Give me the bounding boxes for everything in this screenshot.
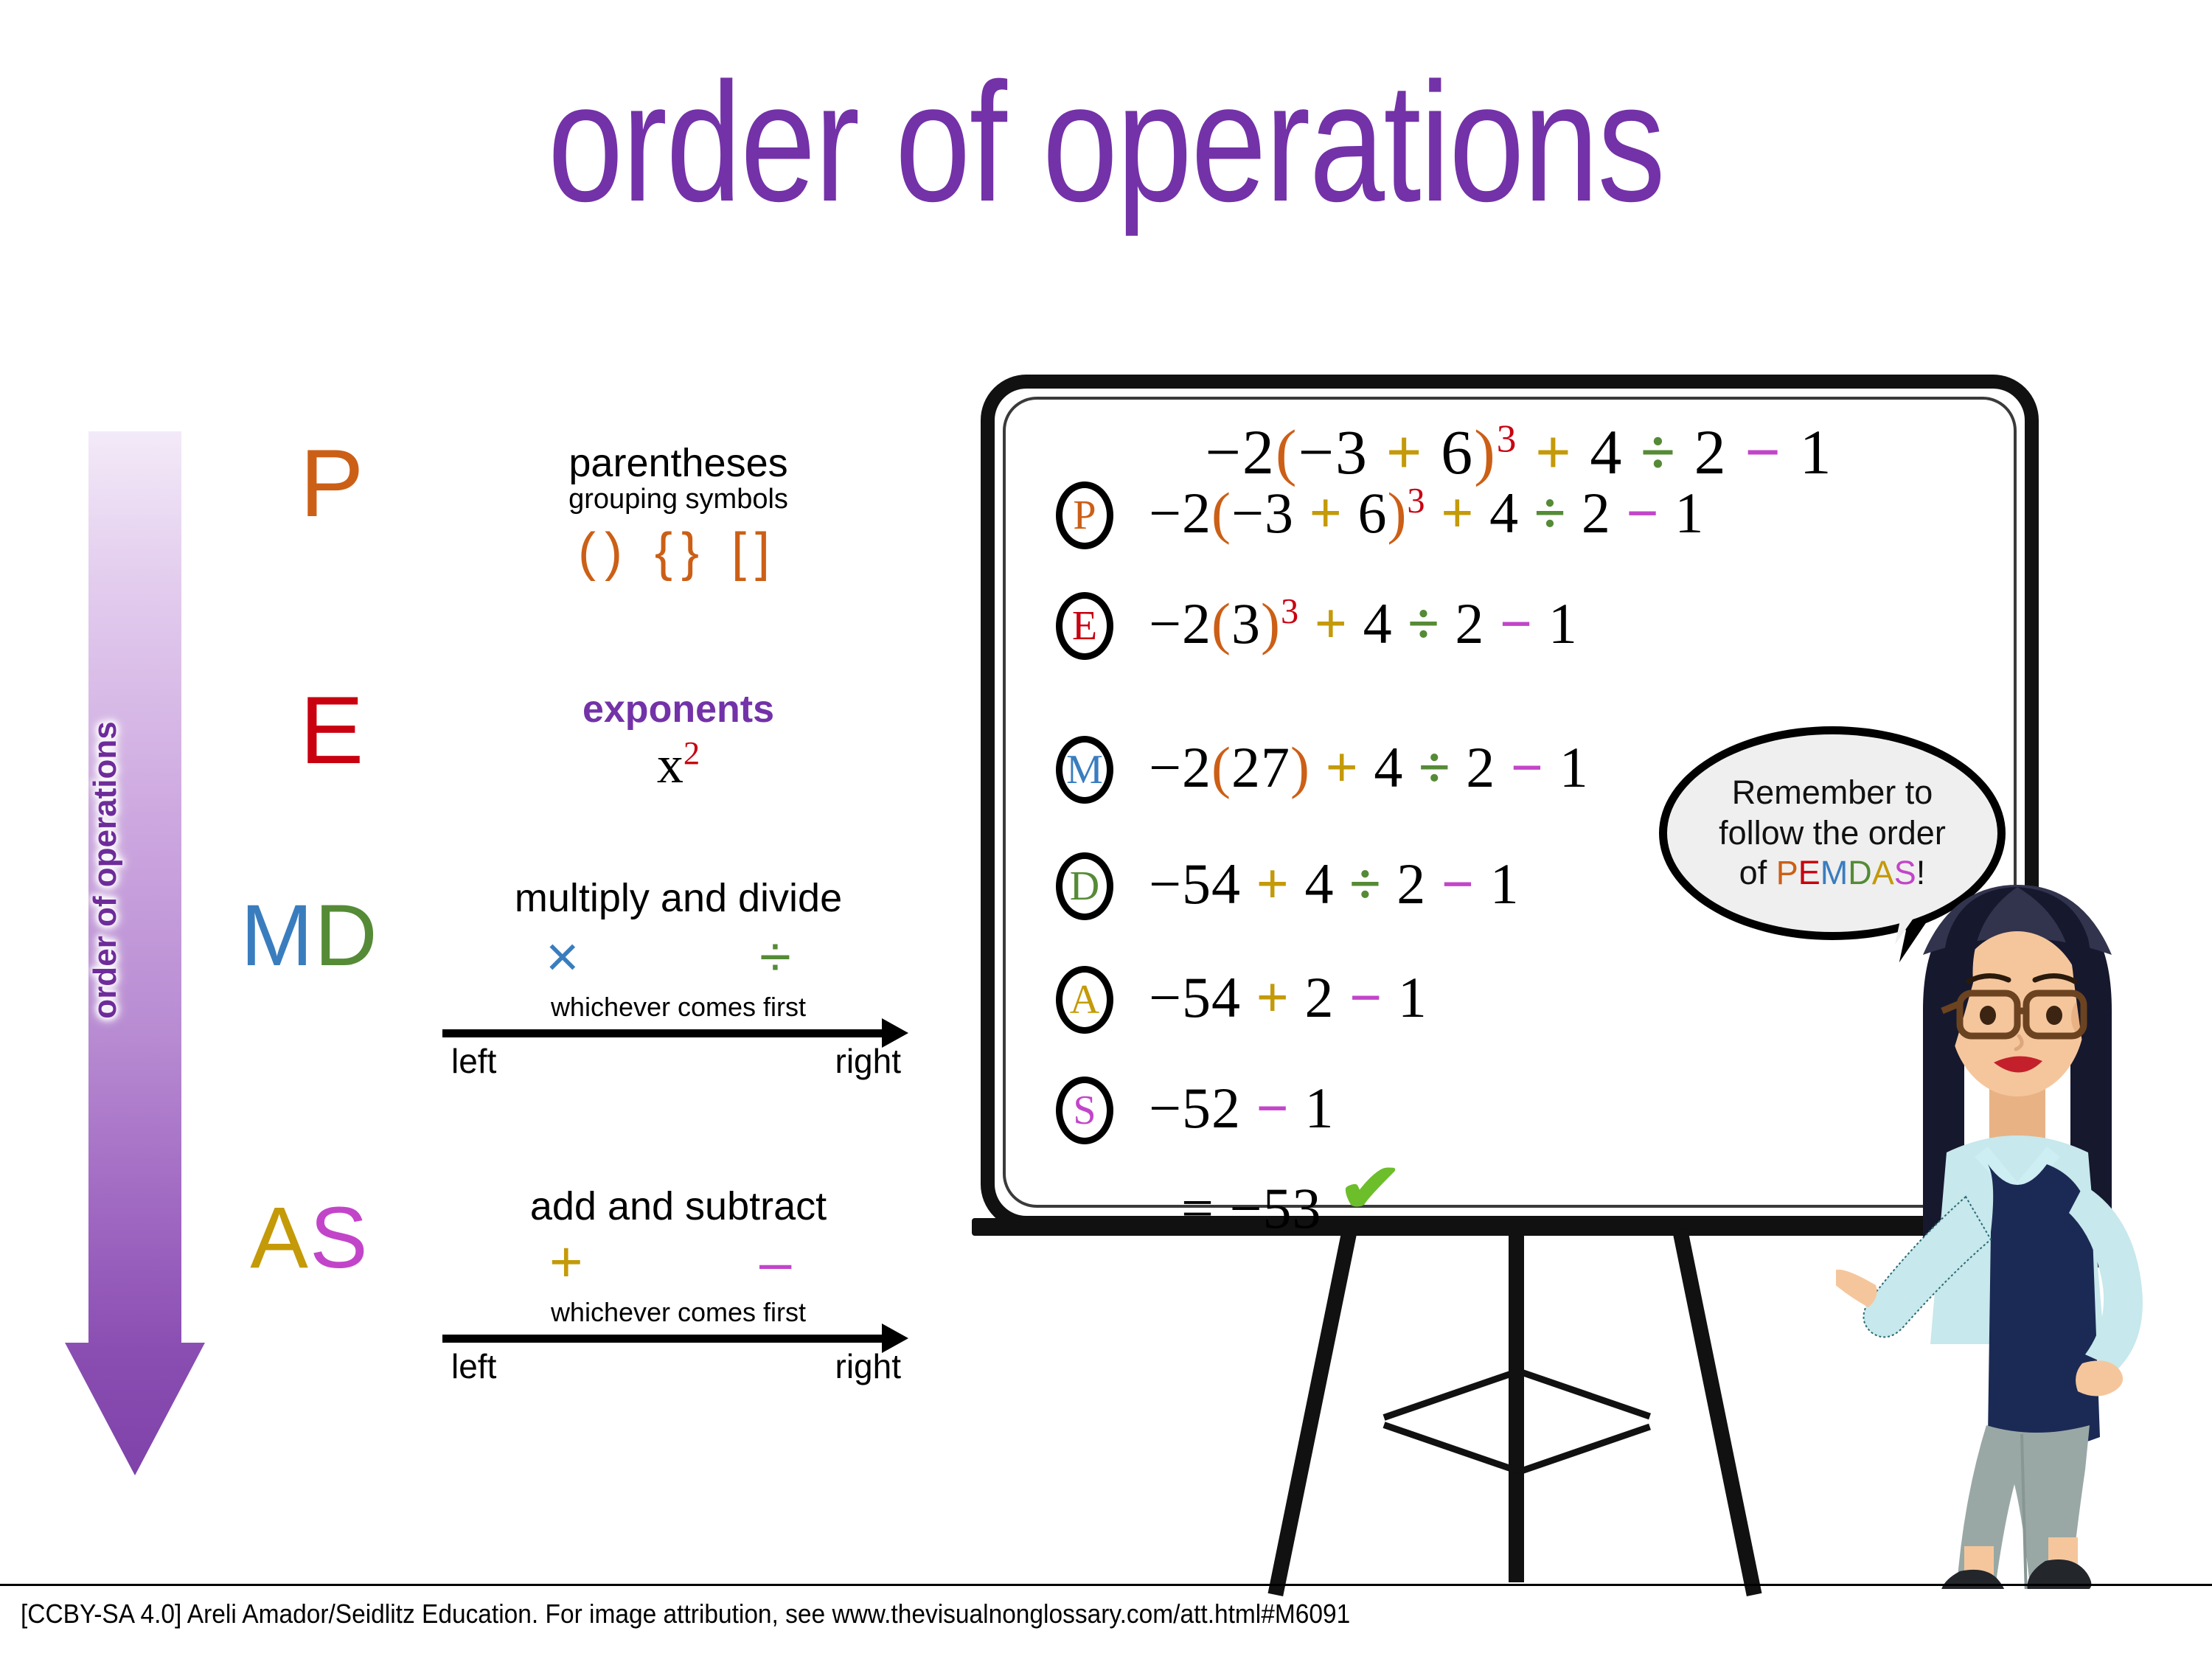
letter-d: D <box>315 887 379 984</box>
parentheses-title: parentheses <box>435 442 922 484</box>
exponents-title: exponents <box>435 689 922 730</box>
step-badge-s: S <box>1056 1077 1113 1144</box>
multiply-icon: × <box>546 928 580 985</box>
easel-leg-right <box>1672 1228 1761 1596</box>
arrow-head-icon <box>65 1343 205 1475</box>
step-expression-s: −52 − 1 <box>1149 1079 1334 1137</box>
step-expression-e: −2(3)3 + 4 ÷ 2 − 1 <box>1149 595 1578 653</box>
minus-icon: – <box>759 1233 791 1290</box>
multiply-divide-direction-labels: left right <box>435 1041 922 1084</box>
teacher-illustration <box>1836 852 2212 1589</box>
multiply-divide-description: multiply and divide <box>435 877 922 919</box>
add-subtract-ops: + – <box>435 1233 922 1299</box>
step-badge-d: D <box>1056 852 1113 920</box>
step-letter-d: D <box>1070 866 1099 907</box>
step-letter-m: M <box>1066 749 1103 790</box>
checkmark-icon: ✔ <box>1338 1149 1403 1228</box>
bubble-line-2: follow the order <box>1719 813 1946 854</box>
parentheses-description: parentheses grouping symbols () {} [] <box>435 442 922 583</box>
multiply-divide-rule: × ÷ whichever comes first left right <box>435 928 922 1084</box>
letter-m: M <box>240 887 314 984</box>
step-letter-s: S <box>1073 1090 1096 1131</box>
main-equation: −2(−3 + 6)3 + 4 ÷ 2 − 1 <box>1054 420 1983 484</box>
left-label-md: left <box>451 1041 496 1081</box>
add-subtract-title: add and subtract <box>435 1186 922 1228</box>
step-letter-a: A <box>1070 979 1099 1020</box>
left-label-as: left <box>451 1346 496 1386</box>
result-expression: = −53 <box>1181 1180 1321 1237</box>
step-expression-a: −54 + 2 − 1 <box>1149 969 1427 1026</box>
divide-icon: ÷ <box>759 928 791 985</box>
pemdas-letters-as: AS <box>214 1194 406 1281</box>
multiply-divide-arrow-line <box>435 1025 922 1041</box>
plus-icon: + <box>549 1233 583 1290</box>
right-label-as: right <box>835 1346 901 1386</box>
add-subtract-description: add and subtract <box>435 1186 922 1228</box>
easel-brace <box>1383 1368 1519 1421</box>
add-subtract-arrow-line <box>435 1330 922 1346</box>
letter-p: P <box>300 429 364 537</box>
step-letter-p: P <box>1073 495 1096 536</box>
letter-s: S <box>310 1189 369 1287</box>
parentheses-subtitle: grouping symbols <box>435 484 922 515</box>
attribution-text: [CCBY-SA 4.0] Areli Amador/Seidlitz Educ… <box>21 1599 1350 1630</box>
step-badge-a: A <box>1056 966 1113 1034</box>
add-subtract-note: whichever comes first <box>435 1299 922 1326</box>
easel-leg-left <box>1268 1228 1357 1596</box>
letter-a: A <box>250 1189 310 1287</box>
multiply-divide-ops: × ÷ <box>435 928 922 994</box>
add-subtract-rule: + – whichever comes first left right <box>435 1233 922 1389</box>
exponent-base: x <box>657 735 684 794</box>
pemdas-letters-p: P <box>236 435 428 531</box>
page-title: order of operations <box>221 58 1991 227</box>
teacher-svg <box>1836 852 2212 1589</box>
exponents-description: exponents x2 <box>435 689 922 796</box>
arrow-bar <box>442 1029 885 1037</box>
arrow-bar <box>442 1335 885 1343</box>
step-badge-p: P <box>1056 481 1113 549</box>
easel-brace <box>1515 1424 1651 1476</box>
grouping-symbols-glyphs: () {} [] <box>435 522 922 583</box>
footer-divider <box>0 1584 2212 1586</box>
arrow-label: order of operations <box>87 575 124 1165</box>
bubble-line3-prefix: of <box>1739 854 1776 891</box>
step-expression-m: −2(27) + 4 ÷ 2 − 1 <box>1149 739 1589 796</box>
step-letter-e: E <box>1072 605 1097 647</box>
step-badge-m: M <box>1056 736 1113 804</box>
step-expression-d: −54 + 4 ÷ 2 − 1 <box>1149 855 1520 913</box>
multiply-divide-title: multiply and divide <box>435 877 922 919</box>
easel-leg-center <box>1509 1230 1524 1582</box>
exponent-power: 2 <box>684 734 700 771</box>
letter-e: E <box>300 676 364 784</box>
multiply-divide-note: whichever comes first <box>435 994 922 1020</box>
pemdas-letters-md: MD <box>214 892 406 979</box>
pemdas-letters-e: E <box>236 682 428 778</box>
step-badge-e: E <box>1056 592 1113 660</box>
right-label-md: right <box>835 1041 901 1081</box>
easel-brace <box>1383 1422 1519 1474</box>
add-subtract-direction-labels: left right <box>435 1346 922 1389</box>
exponent-example: x2 <box>435 734 922 796</box>
bubble-line-1: Remember to <box>1719 773 1946 813</box>
easel-brace <box>1515 1367 1651 1419</box>
order-of-operations-arrow: order of operations <box>65 431 205 1475</box>
step-expression-p: −2(−3 + 6)3 + 4 ÷ 2 − 1 <box>1149 484 1704 542</box>
